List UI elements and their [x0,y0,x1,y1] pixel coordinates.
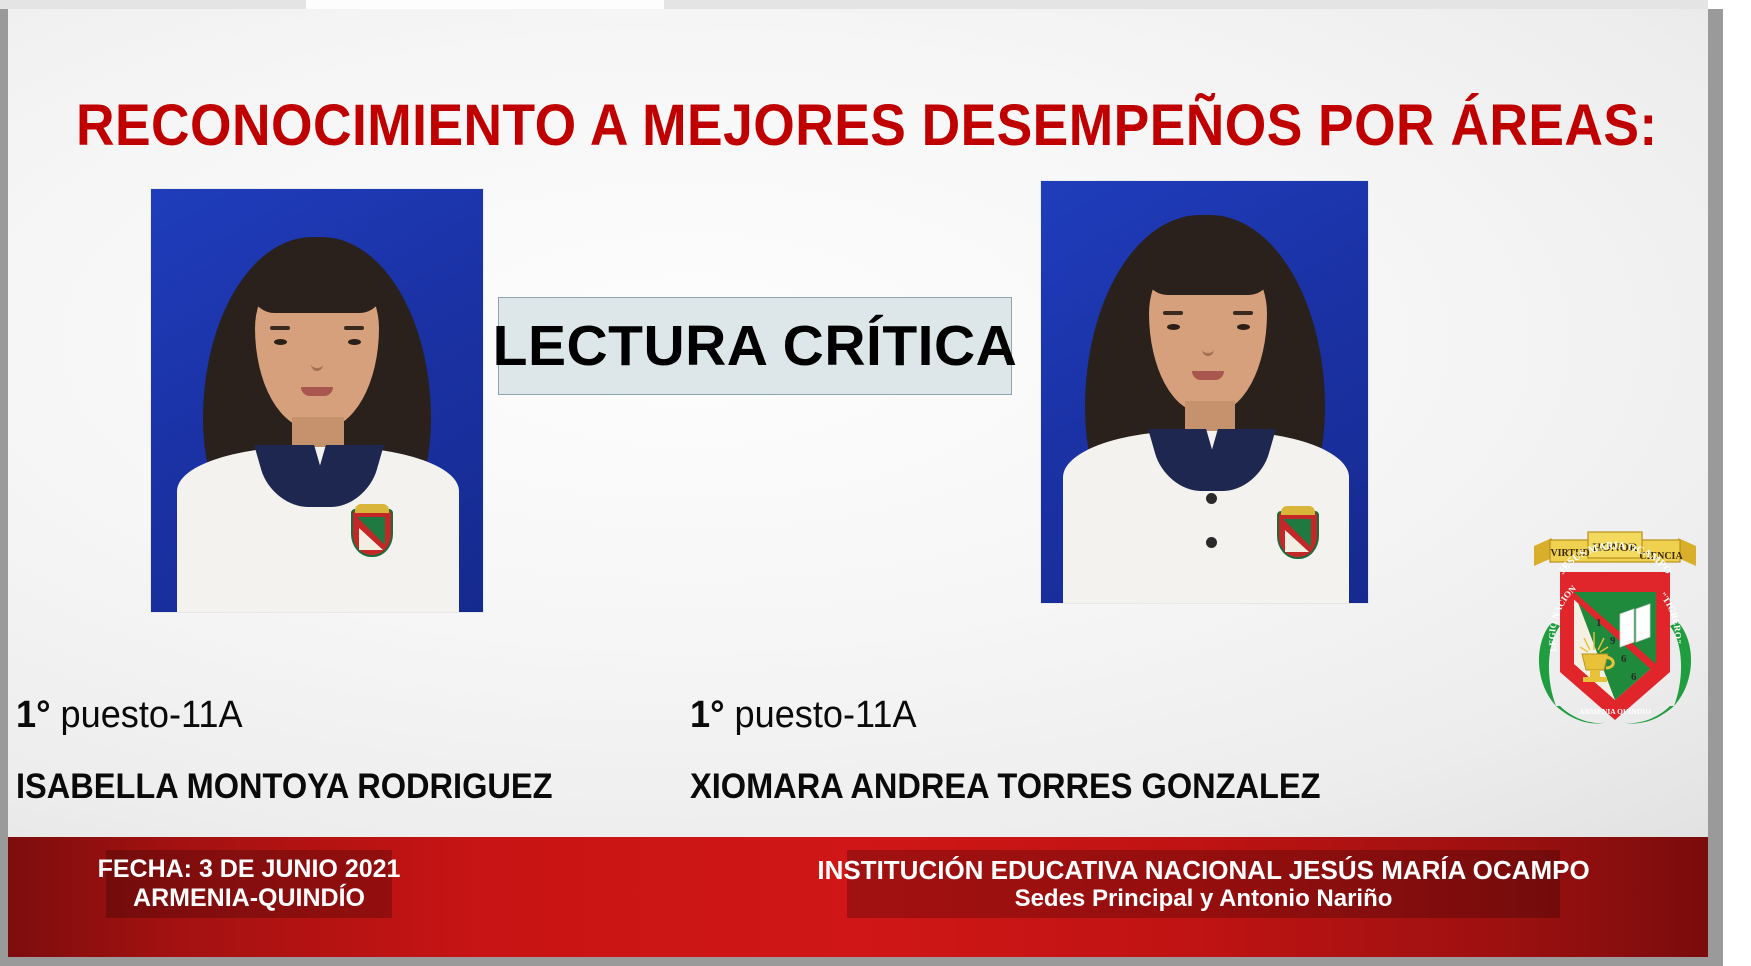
student-name-left: ISABELLA MONTOYA RODRIGUEZ [16,769,553,804]
uniform-button-bottom [1206,537,1217,548]
svg-text:9: 9 [1610,635,1616,647]
svg-text:6: 6 [1631,671,1637,683]
footer-date-line: FECHA: 3 DE JUNIO 2021 [98,855,401,885]
footer-institution-panel: INSTITUCIÓN EDUCATIVA NACIONAL JESÚS MAR… [847,850,1560,918]
uniform-button-top [1206,493,1217,504]
eye-left [274,339,287,345]
window-bottom-border [0,957,1723,966]
crest-crown-icon [1281,506,1315,515]
eyebrow-right [344,326,364,330]
eye-right [1237,324,1250,330]
eye-right [348,339,361,345]
footer-date-panel: FECHA: 3 DE JUNIO 2021 ARMENIA-QUINDÍO [106,850,392,918]
area-label-box: LECTURA CRÍTICA [498,297,1012,395]
crest-arc-bottom: ARMENIA QUINDIO [1579,707,1651,716]
eyebrow-left [1163,311,1183,315]
footer-city-line: ARMENIA-QUINDÍO [133,884,365,914]
student-photo-left [151,189,483,612]
footer-institution-name: INSTITUCIÓN EDUCATIVA NACIONAL JESÚS MAR… [817,855,1589,886]
browser-tab-active[interactable] [306,0,664,9]
uniform-crest-icon [351,509,393,557]
svg-text:6: 6 [1621,653,1627,665]
nose-shape [311,357,323,371]
svg-text:1: 1 [1596,617,1602,629]
student-rank-right-suffix: puesto-11A [725,694,917,736]
window-left-border [0,9,8,966]
mouth-shape [1192,371,1224,380]
window-right-border [1708,9,1723,957]
uniform-crest-icon [1277,511,1319,559]
student-name-right: XIOMARA ANDREA TORRES GONZALEZ [690,769,1321,804]
page-title: RECONOCIMIENTO A MEJORES DESEMPEÑOS POR … [76,97,1640,155]
eyebrow-right [1233,311,1253,315]
student-rank-left: 1° puesto-11A [16,696,243,734]
application-window: RECONOCIMIENTO A MEJORES DESEMPEÑOS POR … [0,0,1751,966]
footer-bar: FECHA: 3 DE JUNIO 2021 ARMENIA-QUINDÍO I… [8,837,1708,957]
nose-shape [1202,342,1214,356]
school-crest-logo: VIRTUD HONOR CIENCIA [1530,514,1700,744]
student-rank-left-prefix: 1° [16,694,51,736]
student-rank-right: 1° puesto-11A [690,696,917,734]
student-photo-right [1041,181,1368,603]
crest-crown-icon [355,504,389,513]
student-rank-left-suffix: puesto-11A [51,694,243,736]
presentation-slide: RECONOCIMIENTO A MEJORES DESEMPEÑOS POR … [8,9,1708,957]
window-right-filler [1723,0,1751,966]
eye-left [1167,324,1180,330]
student-rank-right-prefix: 1° [690,694,725,736]
footer-institution-campuses: Sedes Principal y Antonio Nariño [1015,885,1393,913]
area-label-text: LECTURA CRÍTICA [493,318,1018,375]
mouth-shape [301,387,333,396]
eyebrow-left [270,326,290,330]
